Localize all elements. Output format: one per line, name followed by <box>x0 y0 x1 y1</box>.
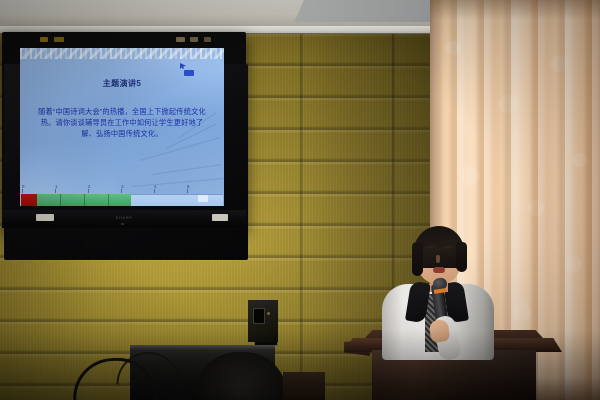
timer-tick-5: 5 <box>187 184 203 189</box>
timer-tick-2: 2 <box>88 184 104 189</box>
speaker-eye-left <box>426 250 433 253</box>
bezel-indicator-gray-3 <box>204 37 211 42</box>
equipment-jack <box>253 308 265 324</box>
speaker-brow-right <box>443 246 452 248</box>
curtain-top-shadow <box>430 0 600 20</box>
slide-title: 主题演讲5 <box>20 78 224 89</box>
bezel-indicator-gray <box>176 37 185 42</box>
bezel-indicator-amber-2 <box>54 37 64 42</box>
display-label-left <box>36 214 54 221</box>
display-label-right <box>212 214 228 221</box>
osd-badge <box>184 70 194 76</box>
foreground-monitor-edge <box>130 345 275 350</box>
timer-tick-4: 4 <box>154 184 170 189</box>
timer-tick-3: 3 <box>121 184 137 189</box>
display-screen[interactable]: 主题演讲5 随着“中国诗词大会”的热播，全国上下掀起传统文化热。请你谈谈辅导员在… <box>20 48 224 206</box>
equipment-led <box>267 312 270 315</box>
display-brand-logo: SHARP <box>104 215 144 220</box>
speaker-nose <box>436 255 440 263</box>
slide-body-text: 随着“中国诗词大会”的热播，全国上下掀起传统文化热。请你谈谈辅导员在工作中如何让… <box>36 106 208 140</box>
bezel-indicator-amber <box>40 37 48 42</box>
speaker-eye-right <box>444 250 451 253</box>
speaker-hair-left <box>412 242 423 276</box>
bezel-indicator-gray-2 <box>190 37 198 42</box>
photo-scene: 主题演讲5 随着“中国诗词大会”的热播，全国上下掀起传统文化热。请你谈谈辅导员在… <box>0 0 600 400</box>
speaker-person <box>378 228 498 353</box>
timer-segment-red <box>21 194 37 206</box>
timer-tick-0: 0 <box>22 184 38 189</box>
timer-marker-chip <box>198 195 208 202</box>
chair-back <box>283 372 325 400</box>
slide-top-ornament <box>20 48 224 59</box>
timer-tick-labels: 0 1 2 3 4 5 <box>21 184 223 192</box>
timer-tick-1: 1 <box>55 184 71 189</box>
speaker-hair-right <box>456 242 467 272</box>
speaker-brow-left <box>425 246 434 248</box>
speaker-mouth <box>433 267 445 273</box>
display-power-led <box>121 223 124 225</box>
